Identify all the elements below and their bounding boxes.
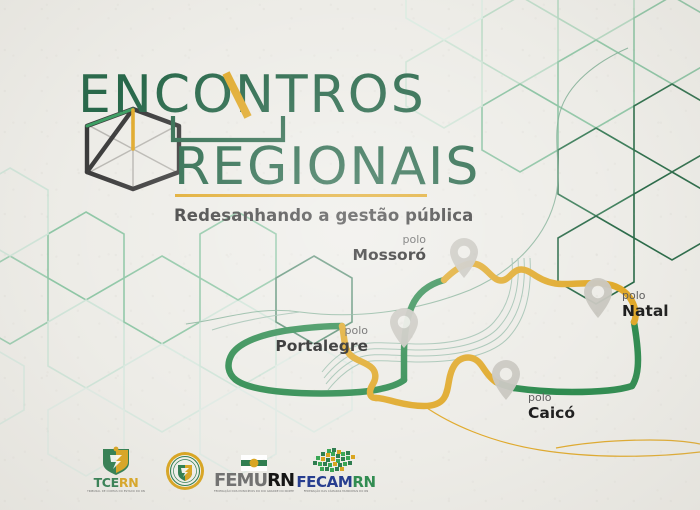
- map-label-mossoro: polo Mossoró: [308, 234, 426, 264]
- logo-tagline: FEDERAÇÃO DAS CÂMARAS MUNICIPAIS DO RN: [290, 491, 382, 494]
- map-label-city: Natal: [622, 303, 698, 320]
- logo-part1: TCE: [94, 475, 119, 490]
- map-label-portalegre: polo Portalegre: [238, 325, 368, 355]
- tce-rn-logo: TCERN TRIBUNAL DE CONTAS DO ESTADO DO RN: [74, 447, 158, 494]
- logo-tagline: FEDERAÇÃO DOS MUNICÍPIOS DO RIO GRANDE D…: [212, 491, 296, 494]
- map-label-kind: polo: [238, 325, 368, 337]
- map-label-city: Mossoró: [308, 247, 426, 264]
- logo-tagline: TRIBUNAL DE CONTAS DO ESTADO DO RN: [74, 491, 158, 494]
- circular-seal-icon: [165, 451, 205, 491]
- fecam-rn-logo: FECAMRN FEDERAÇÃO DAS CÂMARAS MUNICIPAIS…: [290, 448, 382, 494]
- map-label-city: Portalegre: [238, 338, 368, 355]
- map-label-caico: polo Caicó: [528, 392, 598, 422]
- map-label-natal: polo Natal: [622, 290, 698, 320]
- map-label-city: Caicó: [528, 405, 598, 422]
- map-label-kind: polo: [308, 234, 426, 246]
- logo-part1: FEMU: [214, 470, 267, 491]
- map-pin-icon-portalegre[interactable]: [390, 308, 418, 348]
- map-pin-icon-caico[interactable]: [492, 360, 520, 400]
- partner-logos: TCERN TRIBUNAL DE CONTAS DO ESTADO DO RN: [70, 446, 370, 494]
- map-label-kind: polo: [622, 290, 698, 302]
- rn-flag-icon: [241, 455, 267, 471]
- mosaic-map-icon: [307, 448, 365, 474]
- map-label-kind: polo: [528, 392, 598, 404]
- logo-part1: FECAM: [296, 473, 352, 491]
- logo-part2: RN: [352, 473, 375, 491]
- poster-canvas: ENCONTROS REGIONAIS Redesanhando a gestã…: [0, 0, 700, 510]
- tce-shield-icon: [99, 447, 133, 475]
- map-pin-icon-natal[interactable]: [584, 278, 612, 318]
- seal-logo: [158, 451, 212, 491]
- logo-part2: RN: [119, 475, 139, 490]
- femurn-logo: FEMURN FEDERAÇÃO DOS MUNICÍPIOS DO RIO G…: [212, 455, 296, 494]
